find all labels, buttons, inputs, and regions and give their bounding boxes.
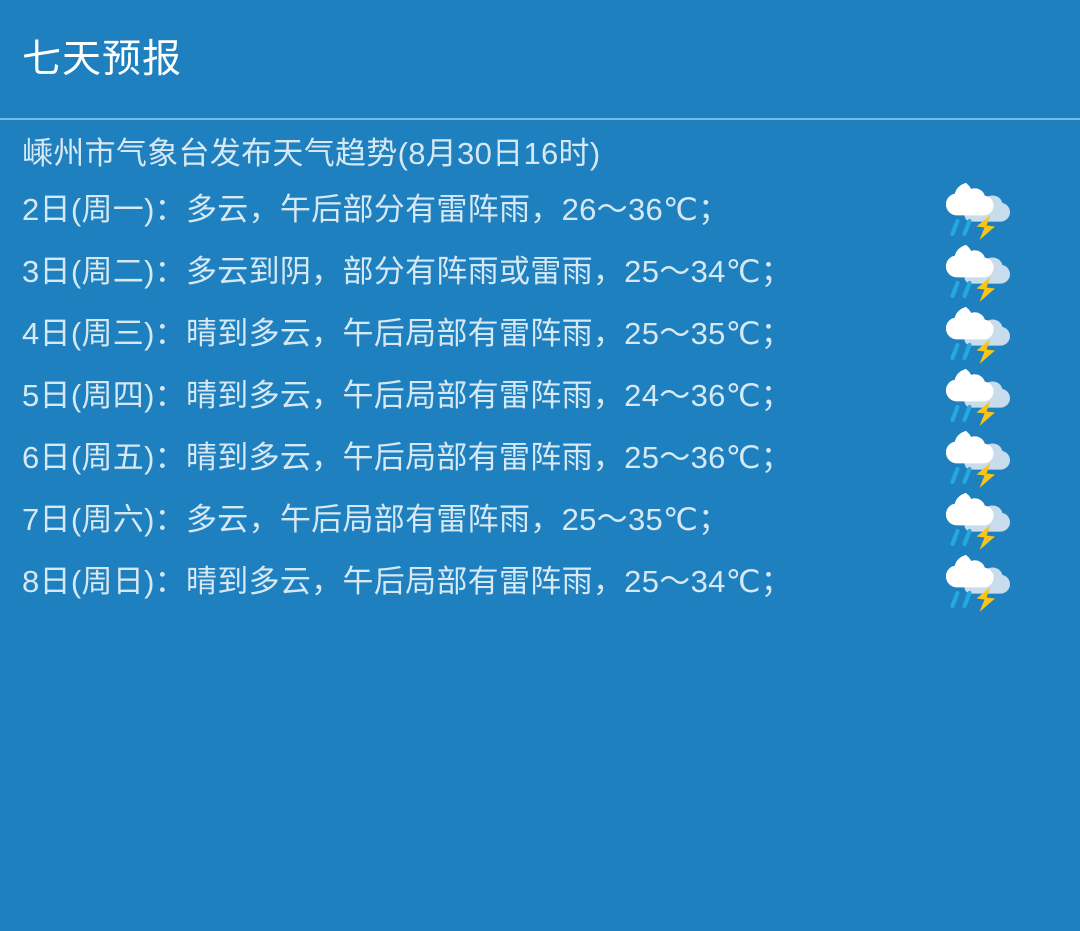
forecast-row-icon (927, 551, 1035, 613)
thunderstorm-icon (943, 179, 1019, 241)
forecast-list: 2日(周一)：多云，午后部分有雷阵雨，26～36℃； 3日(周二)：多云到阴，部… (0, 179, 1080, 613)
rain-drops-icon (953, 283, 970, 296)
forecast-row-text: 4日(周三)：晴到多云，午后局部有雷阵雨，25～35℃； (22, 307, 927, 361)
thunderstorm-icon (943, 551, 1019, 613)
rain-drops-icon (953, 469, 970, 482)
forecast-row-icon (927, 489, 1035, 551)
forecast-source-line: 嵊州市气象台发布天气趋势(8月30日16时) (0, 134, 1080, 175)
forecast-row[interactable]: 4日(周三)：晴到多云，午后局部有雷阵雨，25～35℃； (0, 303, 1080, 365)
rain-drops-icon (953, 407, 970, 420)
page-header: 七天预报 (0, 0, 1080, 118)
forecast-row-text: 6日(周五)：晴到多云，午后局部有雷阵雨，25～36℃； (22, 431, 927, 485)
forecast-row-text: 7日(周六)：多云，午后局部有雷阵雨，25～35℃； (22, 493, 927, 547)
rain-drops-icon (953, 531, 970, 544)
forecast-row[interactable]: 8日(周日)：晴到多云，午后局部有雷阵雨，25～34℃； (0, 551, 1080, 613)
rain-drops-icon (953, 593, 970, 606)
forecast-row-text: 2日(周一)：多云，午后部分有雷阵雨，26～36℃； (22, 183, 927, 237)
forecast-body: 嵊州市气象台发布天气趋势(8月30日16时) 2日(周一)：多云，午后部分有雷阵… (0, 120, 1080, 613)
header-divider (0, 118, 1080, 120)
forecast-row-text: 3日(周二)：多云到阴，部分有阵雨或雷雨，25～34℃； (22, 245, 927, 299)
thunderstorm-icon (943, 489, 1019, 551)
page-title: 七天预报 (22, 40, 182, 79)
forecast-row-icon (927, 179, 1035, 241)
thunderstorm-icon (943, 365, 1019, 427)
seven-day-forecast-page: 七天预报 嵊州市气象台发布天气趋势(8月30日16时) 2日(周一)：多云，午后… (0, 0, 1080, 931)
forecast-row-icon (927, 365, 1035, 427)
forecast-row-icon (927, 303, 1035, 365)
thunderstorm-icon (943, 427, 1019, 489)
forecast-row[interactable]: 5日(周四)：晴到多云，午后局部有雷阵雨，24～36℃； (0, 365, 1080, 427)
forecast-row-text: 5日(周四)：晴到多云，午后局部有雷阵雨，24～36℃； (22, 369, 927, 423)
thunderstorm-icon (943, 241, 1019, 303)
forecast-row[interactable]: 2日(周一)：多云，午后部分有雷阵雨，26～36℃； (0, 179, 1080, 241)
forecast-row[interactable]: 3日(周二)：多云到阴，部分有阵雨或雷雨，25～34℃； (0, 241, 1080, 303)
rain-drops-icon (953, 345, 970, 358)
forecast-row-icon (927, 427, 1035, 489)
forecast-row[interactable]: 6日(周五)：晴到多云，午后局部有雷阵雨，25～36℃； (0, 427, 1080, 489)
forecast-row[interactable]: 7日(周六)：多云，午后局部有雷阵雨，25～35℃； (0, 489, 1080, 551)
forecast-row-icon (927, 241, 1035, 303)
thunderstorm-icon (943, 303, 1019, 365)
rain-drops-icon (953, 221, 970, 234)
forecast-row-text: 8日(周日)：晴到多云，午后局部有雷阵雨，25～34℃； (22, 555, 927, 609)
